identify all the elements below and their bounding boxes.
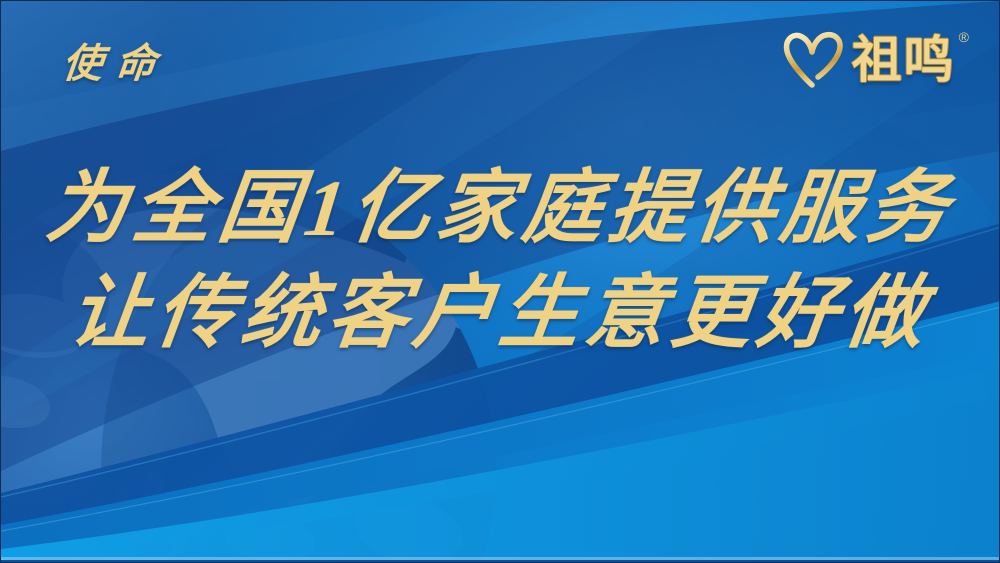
headline-line-2: 让传统客户生意更好做 [0,262,1000,367]
section-tag-mission: 使命 [60,31,172,89]
brand-logo: 祖鸣 ® [782,27,969,93]
registered-trademark-icon: ® [959,29,969,45]
brand-wordmark: 祖鸣 [852,33,956,87]
heart-outline-icon [782,31,844,89]
headline-block: 为全国1亿家庭提供服务 让传统客户生意更好做 [1,157,999,367]
mission-banner: 使命 祖鸣 ® 为全国1亿家庭提供服务 让传统客户生意更好做 [0,0,1000,563]
headline-line-1: 为全国1亿家庭提供服务 [0,157,1000,262]
